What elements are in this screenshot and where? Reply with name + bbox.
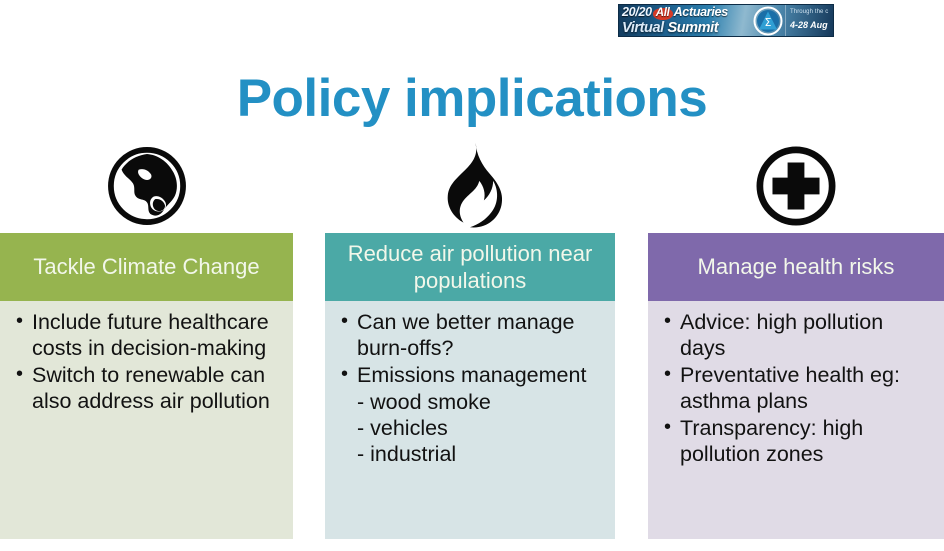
banner-wordmark: 20/20AllActuaries Virtual Summit [619,5,751,36]
bullet-list-pollution: Can we better manage burn-offs? Emission… [339,309,605,467]
banner-virtual-text: Virtual [622,20,664,36]
list-item: Preventative health eg: asthma plans [662,362,934,414]
column-body-manage-health-risks: Advice: high pollution days Preventative… [648,301,944,539]
banner-actuaries-text: Actuaries [674,5,728,19]
banner-year-text: 20/20 [622,5,652,19]
list-item-sub: - industrial [339,441,605,467]
list-item: Switch to renewable can also address air… [14,362,283,414]
column-header-reduce-air-pollution: Reduce air pollution near populations [325,233,615,301]
flame-icon [325,138,615,233]
column-header-tackle-climate-change: Tackle Climate Change [0,233,293,301]
column-body-reduce-air-pollution: Can we better manage burn-offs? Emission… [325,301,615,539]
list-item-sub: - vehicles [339,415,605,441]
bullet-list-climate: Include future healthcare costs in decis… [14,309,283,414]
banner-line-1: 20/20AllActuaries [622,6,751,20]
list-item-sub: - wood smoke [339,389,605,415]
list-item: Can we better manage burn-offs? [339,309,605,361]
column-body-tackle-climate-change: Include future healthcare costs in decis… [0,301,293,539]
summit-logo-icon: Σ [751,5,785,36]
banner-details: Through the c 4-28 Aug [785,5,833,36]
column-header-manage-health-risks: Manage health risks [648,233,944,301]
banner-dates: 4-28 Aug [790,20,833,30]
list-item: Advice: high pollution days [662,309,934,361]
list-item: Transparency: high pollution zones [662,415,934,467]
column-reduce-air-pollution: Reduce air pollution near populations Ca… [325,138,615,543]
globe-icon [0,138,293,233]
banner-line-2: Virtual Summit [622,21,751,36]
banner-all-badge: All [653,8,673,20]
list-item: Emissions management [339,362,605,388]
svg-text:Σ: Σ [765,16,772,29]
columns-container: Tackle Climate Change Include future hea… [0,138,944,543]
summit-banner: 20/20AllActuaries Virtual Summit Σ Throu… [618,4,834,37]
page-title: Policy implications [0,68,944,129]
list-item: Include future healthcare costs in decis… [14,309,283,361]
bullet-list-health: Advice: high pollution days Preventative… [662,309,934,467]
banner-summit-text: Summit [667,20,718,36]
medical-cross-icon [648,138,944,233]
column-manage-health-risks: Manage health risks Advice: high polluti… [648,138,944,543]
column-tackle-climate-change: Tackle Climate Change Include future hea… [0,138,293,543]
banner-tagline: Through the c [790,9,833,15]
